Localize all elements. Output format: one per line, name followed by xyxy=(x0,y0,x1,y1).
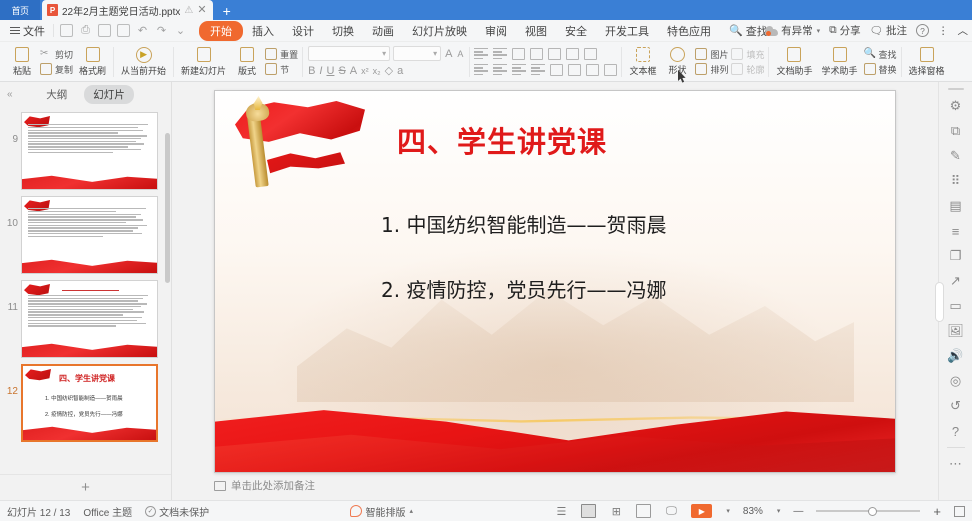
slide-number: 9 xyxy=(2,112,18,145)
export-icon[interactable]: ↗ xyxy=(947,272,965,290)
start-from-current-label: 从当前开始 xyxy=(121,64,166,77)
print-icon[interactable]: ⎙ xyxy=(79,24,92,37)
copy-button[interactable]: 复制 xyxy=(40,63,73,76)
text-color-button[interactable]: A xyxy=(350,65,357,77)
slide-sorter-icon[interactable]: ⊞ xyxy=(609,505,623,518)
new-tab-button[interactable]: + xyxy=(223,4,231,18)
underline-button[interactable]: U xyxy=(326,65,334,77)
thumbnail-title: 四、学生讲党课 xyxy=(59,373,115,384)
decrease-list-level-icon[interactable] xyxy=(586,64,599,76)
reset-button[interactable]: 重置 xyxy=(265,48,298,61)
search-icon: 🔍 xyxy=(729,24,743,37)
slide-thumbnail-11[interactable] xyxy=(21,280,158,358)
text-direction-icon[interactable] xyxy=(548,48,561,60)
arrange-icon xyxy=(695,63,707,75)
font-size-select[interactable]: ▾ xyxy=(393,46,441,61)
ribbon-tab-security[interactable]: 安全 xyxy=(556,21,596,41)
replace-icon xyxy=(864,63,876,75)
align-right-icon[interactable] xyxy=(512,64,526,75)
academic-assistant-label: 学术助手 xyxy=(822,64,858,77)
close-tab-icon[interactable]: ✕ xyxy=(197,5,206,16)
share-button[interactable]: ⧉ 分享 xyxy=(829,23,861,38)
chart-icon[interactable]: ▤ xyxy=(947,197,965,215)
slides-tab[interactable]: 幻灯片 xyxy=(84,85,134,104)
play-slideshow-button[interactable]: ▶ xyxy=(691,504,712,518)
rail-drag-handle[interactable] xyxy=(935,282,944,322)
reset-label: 重置 xyxy=(280,48,298,61)
numbered-list-icon[interactable] xyxy=(493,48,507,59)
fill-icon xyxy=(731,48,743,60)
font-name-select[interactable]: ▾ xyxy=(308,46,390,61)
thumbnail-text-lines xyxy=(28,124,153,153)
right-tool-rail: ⚙ ⧉ ✎ ⠿ ▤ ≡ ❐ ↗ ▭ 🖼 🔊 ◎ ↺ ? ⋯ xyxy=(938,82,972,500)
ribbon-tab-transition[interactable]: 切换 xyxy=(323,21,363,41)
start-from-current-button[interactable]: ▶ 从当前开始 xyxy=(118,45,169,79)
fit-to-window-icon[interactable] xyxy=(954,506,965,517)
grid-apps-icon[interactable]: ⠿ xyxy=(947,172,965,190)
share-icon: ⧉ xyxy=(829,24,837,37)
zoom-slider[interactable] xyxy=(816,506,920,517)
comment-icon: 🗨 xyxy=(870,24,883,37)
text-box-label: 文本框 xyxy=(629,64,656,77)
doc-assistant-icon xyxy=(787,47,801,62)
thumbnail-item[interactable]: 10 xyxy=(0,193,171,277)
doc-assistant-button[interactable]: 文档助手 xyxy=(773,44,815,79)
cut-label: 剪切 xyxy=(55,48,73,61)
more-dots-icon[interactable]: ⋯ xyxy=(947,455,965,473)
hamburger-icon xyxy=(10,27,20,34)
grow-font-icon[interactable]: A xyxy=(444,48,453,60)
find-button[interactable]: 🔍 查找 xyxy=(864,48,897,61)
share-label: 分享 xyxy=(840,23,861,38)
divider xyxy=(947,447,965,448)
columns-icon[interactable] xyxy=(550,64,563,76)
home-tab-button[interactable]: 首页 xyxy=(0,0,40,20)
smart-layout-icon xyxy=(350,505,362,517)
thumbnail-item-selected[interactable]: 12 四、学生讲党课 1. 中国纺织智能制造——贺雨晨 2. 疫情防控，党员先行… xyxy=(0,361,171,445)
presenter-view-icon[interactable]: 🖵 xyxy=(664,505,678,518)
slide-thumbnail-12[interactable]: 四、学生讲党课 1. 中国纺织智能制造——贺雨晨 2. 疫情防控，党员先行——冯… xyxy=(21,364,158,442)
thumbnail-text-lines xyxy=(28,290,153,327)
history-icon[interactable]: ↺ xyxy=(947,397,965,415)
replace-label: 替换 xyxy=(879,63,897,76)
slide-body-text[interactable]: 1. 中国纺织智能制造——贺雨晨 2. 疫情防控，党员先行——冯娜 xyxy=(381,209,851,339)
slideshow-group: ▶ 从当前开始 xyxy=(114,42,173,82)
coin-icon[interactable]: ◎ xyxy=(947,372,965,390)
layout-button[interactable]: 版式 xyxy=(232,44,262,79)
ribbon-tab-developer[interactable]: 开发工具 xyxy=(596,21,658,41)
redo-icon[interactable]: ↷ xyxy=(155,24,168,37)
chevron-down-icon: ▾ xyxy=(817,27,821,35)
ribbon-tab-design[interactable]: 设计 xyxy=(283,21,323,41)
thumbnail-text-lines xyxy=(28,208,153,237)
tune-sliders-icon[interactable]: ≡ xyxy=(947,222,965,240)
slide-thumbnail-panel: « 大纲 幻灯片 9 xyxy=(0,82,172,500)
red-wave-decoration xyxy=(22,340,157,357)
ribbon-tab-review[interactable]: 审阅 xyxy=(476,21,516,41)
subscript-button[interactable]: x₂ xyxy=(373,66,381,76)
normal-view-icon[interactable] xyxy=(581,504,596,518)
slide-editor-stage: 四、学生讲党课 1. 中国纺织智能制造——贺雨晨 2. 疫情防控，党员先行——冯… xyxy=(172,82,938,500)
document-tab-label: 22年2月主题党日活动.pptx xyxy=(62,3,180,18)
zoom-out-button[interactable]: — xyxy=(793,506,803,517)
new-slide-label: 新建幻灯片 xyxy=(181,64,226,77)
fill-label: 填充 xyxy=(746,48,764,61)
collapse-panel-icon[interactable]: « xyxy=(7,89,13,100)
mouse-cursor xyxy=(678,70,687,84)
new-slide-icon xyxy=(197,47,211,62)
menu-bar: 文件 ⎙ ↶ ↷ ⌄ 开始 插入 设计 切换 动画 幻灯片放映 审阅 视图 安全… xyxy=(0,20,972,42)
decrease-indent-icon[interactable] xyxy=(512,48,525,60)
ribbon-tab-view[interactable]: 视图 xyxy=(516,21,556,41)
shrink-font-icon[interactable]: A xyxy=(456,49,464,59)
play-options-chevron-icon[interactable]: ▾ xyxy=(726,507,730,515)
selection-pane-button[interactable]: 选择窗格 xyxy=(906,44,948,79)
slide-thumbnail-10[interactable] xyxy=(21,196,158,274)
thumbnail-line-1: 1. 中国纺织智能制造——贺雨晨 xyxy=(45,394,123,402)
ink-icon[interactable]: ✎ xyxy=(947,147,965,165)
undo-icon[interactable]: ↶ xyxy=(136,24,149,37)
format-painter-button[interactable]: 格式刷 xyxy=(76,44,109,79)
main-area: « 大纲 幻灯片 9 xyxy=(0,82,972,500)
slide-body-line-1: 1. 中国纺织智能制造——贺雨晨 xyxy=(381,209,851,238)
flag-emblem-icon xyxy=(25,368,51,385)
cut-button[interactable]: ✂ 剪切 xyxy=(40,48,73,61)
theme-status[interactable]: Office 主题 xyxy=(83,504,132,519)
slide-number: 10 xyxy=(2,196,18,229)
shape-icon xyxy=(670,47,685,62)
warning-icon: ⚠ xyxy=(184,5,193,16)
zoom-slider-knob[interactable] xyxy=(868,507,877,516)
academic-assistant-icon xyxy=(833,47,847,62)
help-icon[interactable]: ? xyxy=(916,24,929,37)
slide-number: 11 xyxy=(2,280,18,313)
outline-icon xyxy=(731,63,743,75)
more-options-icon[interactable]: ⋮ xyxy=(938,25,949,37)
selection-group: 选择窗格 xyxy=(902,42,952,82)
picture-icon xyxy=(695,48,707,60)
picture-stack-icon[interactable]: ❐ xyxy=(947,247,965,265)
ribbon-tab-start[interactable]: 开始 xyxy=(199,21,243,41)
outline-button[interactable]: 轮廓 xyxy=(731,63,764,76)
font-group: ▾ ▾ A A B I U S A x² x₂ ◇ a xyxy=(303,46,469,77)
cut-icon: ✂ xyxy=(40,48,52,60)
arrange-button[interactable]: 排列 xyxy=(695,63,728,76)
red-flag-tail-icon xyxy=(267,151,345,181)
new-slide-button[interactable]: 新建幻灯片 xyxy=(178,44,229,79)
copy-icon xyxy=(40,63,52,75)
chevron-up-icon: ▴ xyxy=(409,507,413,515)
format-painter-label: 格式刷 xyxy=(79,64,106,77)
outline-tab[interactable]: 大纲 xyxy=(37,85,76,104)
paste-label: 粘贴 xyxy=(13,64,31,77)
ribbon-tab-insert[interactable]: 插入 xyxy=(243,21,283,41)
tools-group: 文档助手 学术助手 🔍 查找 替换 xyxy=(769,42,900,82)
bullet-list-icon[interactable] xyxy=(474,48,488,59)
zoom-in-button[interactable]: + xyxy=(933,504,941,519)
customize-qat-icon[interactable]: ⌄ xyxy=(174,24,187,37)
settings-gear-icon[interactable]: ⚙ xyxy=(947,97,965,115)
outline-label: 轮廓 xyxy=(746,63,764,76)
ribbon-toolbar: 粘贴 ✂ 剪切 复制 格式刷 ▶ 从当前开始 xyxy=(0,42,972,82)
reading-view-icon[interactable] xyxy=(636,504,651,518)
italic-button[interactable]: I xyxy=(319,65,322,77)
clipboard-group: 粘贴 ✂ 剪切 复制 格式刷 xyxy=(3,42,113,82)
slide-thumbnail-9[interactable] xyxy=(21,112,158,190)
zoom-chevron-icon[interactable]: ▾ xyxy=(777,507,781,515)
window-tab-bar: 首页 P 22年2月主题党日活动.pptx ⚠ ✕ + xyxy=(0,0,972,20)
align-center-icon[interactable] xyxy=(493,64,507,75)
thumbnail-panel-header: « 大纲 幻灯片 xyxy=(0,82,171,107)
protection-label: 文档未保护 xyxy=(159,504,209,519)
doc-assistant-label: 文档助手 xyxy=(776,64,812,77)
section-button[interactable]: 节 xyxy=(265,63,298,76)
file-menu-label: 文件 xyxy=(23,23,45,39)
increase-list-level-icon[interactable] xyxy=(568,64,581,76)
clear-format-button[interactable]: ◇ xyxy=(385,64,393,77)
slides-group: 新建幻灯片 版式 重置 节 xyxy=(174,42,302,82)
zoom-level-label[interactable]: 83% xyxy=(743,506,763,517)
copy-label: 复制 xyxy=(55,63,73,76)
thumbnail-list[interactable]: 9 10 xyxy=(0,107,171,474)
cloud-status-label: 有异常 xyxy=(781,23,813,38)
format-painter-icon xyxy=(86,47,100,62)
comment-label: 批注 xyxy=(886,23,907,38)
section-icon xyxy=(265,63,277,75)
document-tab[interactable]: P 22年2月主题党日活动.pptx ⚠ ✕ xyxy=(42,0,213,20)
ribbon-tab-slideshow[interactable]: 幻灯片放映 xyxy=(403,21,476,41)
cloud-status-button[interactable]: 有异常 ▾ xyxy=(765,23,820,38)
ribbon-tabs: 开始 插入 设计 切换 动画 幻灯片放映 审阅 视图 安全 开发工具 特色应用 … xyxy=(199,21,777,41)
line-spacing-icon[interactable] xyxy=(584,48,597,60)
slide-body-line-2: 2. 疫情防控，党员先行——冯娜 xyxy=(381,274,851,303)
thumbnail-scrollbar[interactable] xyxy=(165,133,170,283)
wps-presentation-window: 首页 P 22年2月主题党日活动.pptx ⚠ ✕ + 文件 ⎙ ↶ ↷ ⌄ 开… xyxy=(0,0,972,521)
align-left-icon[interactable] xyxy=(474,64,488,75)
thumbnail-item[interactable]: 11 xyxy=(0,277,171,361)
insert-group: 文本框 形状 图片 排列 填充 xyxy=(622,42,768,82)
notes-placeholder: 单击此处添加备注 xyxy=(231,478,315,493)
paste-button[interactable]: 粘贴 xyxy=(7,44,37,79)
text-box-button[interactable]: 文本框 xyxy=(626,44,659,79)
pptx-file-icon: P xyxy=(47,4,58,16)
menu-right-actions: 有异常 ▾ ⧉ 分享 🗨 批注 ? ⋮ ︿ xyxy=(765,23,968,38)
paste-icon xyxy=(15,47,29,62)
protection-status[interactable]: ✓ 文档未保护 xyxy=(145,504,209,519)
academic-assistant-button[interactable]: 学术助手 xyxy=(819,44,861,79)
red-wave-decoration xyxy=(22,172,157,189)
slide-number: 12 xyxy=(2,364,18,397)
smart-layout-label: 智能排版 xyxy=(365,504,405,519)
rail-handle-bar xyxy=(948,88,964,90)
thumbnail-item[interactable]: 9 xyxy=(0,109,171,193)
duplicate-icon[interactable]: ⧉ xyxy=(947,122,965,140)
ribbon-tab-featured-apps[interactable]: 特色应用 xyxy=(658,21,720,41)
paragraph-group xyxy=(470,48,621,76)
volume-icon[interactable]: 🔊 xyxy=(947,347,965,365)
add-slide-button[interactable]: + xyxy=(0,474,171,500)
smart-layout-button[interactable]: 智能排版 ▴ xyxy=(350,504,413,519)
cloud-icon xyxy=(765,26,778,36)
arrange-label: 排列 xyxy=(710,63,728,76)
status-bar: 幻灯片 12 / 13 Office 主题 ✓ 文档未保护 智能排版 ▴ ☰ ⊞… xyxy=(0,500,972,521)
selection-pane-icon xyxy=(920,47,934,62)
text-box-icon xyxy=(636,47,650,62)
current-slide[interactable]: 四、学生讲党课 1. 中国纺织智能制造——贺雨晨 2. 疫情防控，党员先行——冯… xyxy=(214,90,896,473)
superscript-button[interactable]: x² xyxy=(361,66,369,76)
help-circle-icon[interactable]: ? xyxy=(947,422,965,440)
save-icon[interactable] xyxy=(60,24,73,37)
archive-icon[interactable]: ▭ xyxy=(947,297,965,315)
align-text-icon[interactable] xyxy=(566,48,579,60)
replace-button[interactable]: 替换 xyxy=(864,63,897,76)
quick-access-toolbar: ⎙ ↶ ↷ ⌄ xyxy=(53,24,193,37)
home-tab-label: 首页 xyxy=(11,4,28,17)
notes-pane[interactable]: 单击此处添加备注 xyxy=(214,478,896,493)
slide-count-status: 幻灯片 12 / 13 xyxy=(7,504,70,519)
justify-icon[interactable] xyxy=(531,64,545,75)
increase-indent-icon[interactable] xyxy=(530,48,543,60)
play-circle-icon: ▶ xyxy=(136,47,152,63)
collapse-ribbon-icon[interactable]: ︿ xyxy=(958,23,969,38)
shield-icon: ✓ xyxy=(145,506,156,517)
picture-button[interactable]: 图片 xyxy=(695,48,728,61)
notes-icon xyxy=(214,481,226,491)
char-spacing-button[interactable]: a xyxy=(397,65,403,77)
image-icon[interactable]: 🖼 xyxy=(947,322,965,340)
fill-button[interactable]: 填充 xyxy=(731,48,764,61)
strikethrough-button[interactable]: S xyxy=(338,65,345,77)
bold-button[interactable]: B xyxy=(308,65,315,77)
thumbnail-line-2: 2. 疫情防控，党员先行——冯娜 xyxy=(45,410,123,418)
print-preview-icon[interactable] xyxy=(98,24,111,37)
find-icon: 🔍 xyxy=(864,48,876,60)
party-flag-emblem xyxy=(227,99,367,195)
search-doc-icon[interactable] xyxy=(117,24,130,37)
slide-title[interactable]: 四、学生讲党课 xyxy=(397,119,607,161)
red-wave-decoration xyxy=(22,256,157,273)
ribbon-tab-animation[interactable]: 动画 xyxy=(363,21,403,41)
reset-icon xyxy=(265,48,277,60)
selection-pane-label: 选择窗格 xyxy=(909,64,945,77)
section-label: 节 xyxy=(280,63,289,76)
view-options-icon[interactable]: ☰ xyxy=(554,505,568,518)
comment-button[interactable]: 🗨 批注 xyxy=(870,23,907,38)
picture-label: 图片 xyxy=(710,48,728,61)
layout-icon xyxy=(240,47,254,62)
layout-label: 版式 xyxy=(238,64,256,77)
paragraph-spacing-icon[interactable] xyxy=(604,64,617,76)
red-wave-decoration xyxy=(23,423,156,440)
find-label: 查找 xyxy=(879,48,897,61)
file-menu-button[interactable]: 文件 xyxy=(4,23,51,39)
